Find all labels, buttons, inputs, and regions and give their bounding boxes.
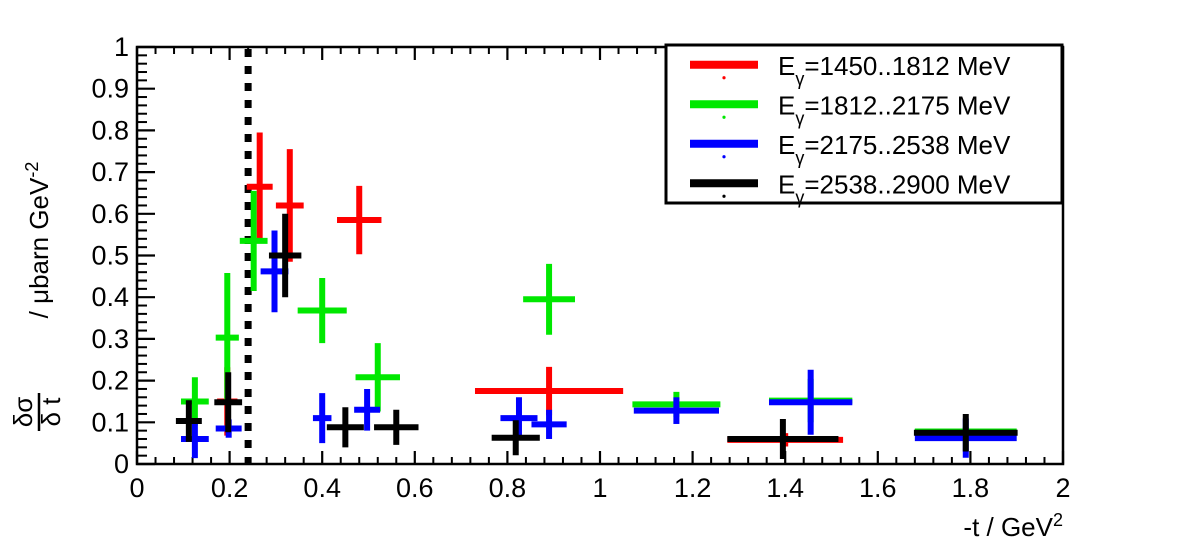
y-tick-label: 0.8: [91, 115, 129, 145]
x-tick-label: 0.6: [396, 473, 434, 503]
y-tick-label: 0.5: [91, 241, 129, 271]
y-tick-label: 0.4: [91, 282, 129, 312]
legend-item-1[interactable]: Eγ=1450..1812 MeV: [676, 47, 1052, 89]
y-axis-numerator: δσ: [8, 397, 38, 428]
x-tick-label: 1: [592, 473, 607, 503]
legend-item-3[interactable]: Eγ=2175..2538 MeV: [676, 126, 1052, 168]
x-tick-label: 0.4: [303, 473, 341, 503]
data-point: [356, 343, 400, 411]
data-point: [337, 186, 381, 254]
y-tick-label: 0.6: [91, 199, 129, 229]
x-tick-label: 1.6: [859, 473, 897, 503]
series-4-points: [176, 214, 1018, 459]
x-tick-label: 0.8: [489, 473, 527, 503]
x-axis-title-text: -t / GeV2: [963, 510, 1063, 542]
y-tick-label: 0.2: [91, 366, 129, 396]
legend-item-2[interactable]: Eγ=1812..2175 MeV: [676, 87, 1052, 129]
data-point: [327, 407, 364, 447]
legend-marker-dot: [722, 155, 725, 158]
x-tick-label: 0: [129, 473, 144, 503]
data-point: [475, 367, 623, 415]
y-tick-label: 0.7: [91, 157, 129, 187]
data-point: [914, 414, 1018, 452]
data-point: [298, 278, 347, 343]
data-point: [634, 397, 719, 424]
data-point: [374, 410, 418, 445]
x-tick-label: 1.4: [766, 473, 804, 503]
legend-marker-dot: [722, 116, 725, 119]
y-tick-label: 1: [114, 32, 129, 62]
y-tick-label: 0.9: [91, 74, 129, 104]
y-tick-label: 0.3: [91, 324, 129, 354]
legend[interactable]: Eγ=1450..1812 MeVEγ=1812..2175 MeVEγ=217…: [666, 45, 1062, 207]
x-axis-tick-labels: 00.20.40.60.811.21.41.61.82: [129, 473, 1070, 503]
y-tick-label: 0.1: [91, 407, 129, 437]
chart-canvas: 00.20.40.60.811.21.41.61.82 00.10.20.30.…: [0, 0, 1182, 548]
data-point: [313, 393, 332, 443]
y-axis-tick-labels: 00.10.20.30.40.50.60.70.80.91: [91, 32, 129, 479]
legend-item-4[interactable]: Eγ=2538..2900 MeV: [676, 166, 1052, 208]
series-3-points: [181, 230, 1017, 458]
legend-marker-dot: [722, 195, 725, 198]
x-tick-label: 1.8: [952, 473, 990, 503]
data-point: [240, 191, 268, 291]
y-axis-title-group: δσδ t: [8, 393, 66, 431]
x-tick-label: 1.2: [674, 473, 712, 503]
data-point: [531, 410, 566, 439]
data-point: [181, 420, 209, 458]
data-point: [500, 397, 537, 439]
data-point: [276, 149, 304, 262]
y-axis-title: δσδ t/ μbarn GeV-2: [8, 162, 66, 431]
data-point: [727, 419, 838, 459]
series-2-points: [181, 191, 1017, 436]
legend-marker-dot: [722, 76, 725, 79]
x-tick-label: 2: [1055, 473, 1070, 503]
cross-section-scatter-plot: 00.20.40.60.811.21.41.61.82 00.10.20.30.…: [0, 0, 1182, 548]
data-point: [214, 372, 242, 432]
data-point: [523, 264, 575, 335]
y-axis-units-text: / μbarn GeV-2: [22, 162, 54, 319]
y-tick-label: 0: [114, 449, 129, 479]
y-axis-ticks: [137, 47, 155, 464]
data-point: [176, 400, 202, 442]
y-axis-units-group: / μbarn GeV-2: [22, 162, 54, 319]
y-axis-denominator: δ t: [36, 397, 66, 427]
x-axis-title: -t / GeV2: [963, 510, 1063, 542]
x-tick-label: 0.2: [211, 473, 249, 503]
